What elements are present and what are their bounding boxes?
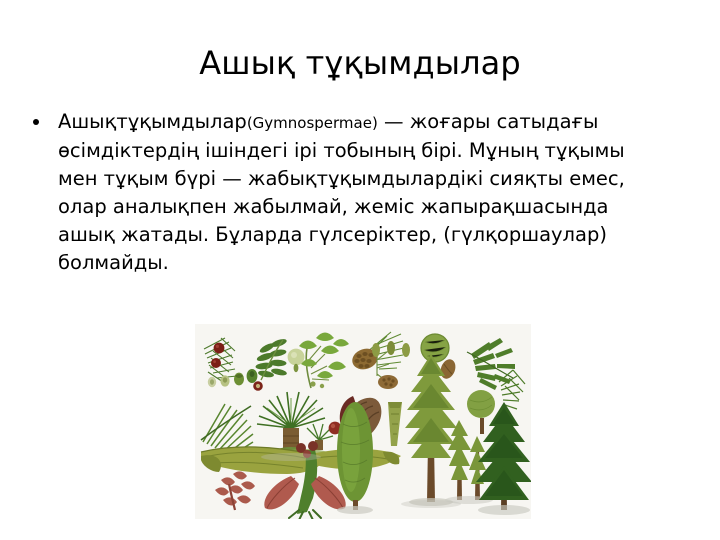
presentation-slide: Ашық тұқымдылар Ашықтұқымдылар(Gymnosper… [0, 0, 720, 540]
slide-body: Ашықтұқымдылар(Gymnospermae) — жоғары са… [28, 108, 640, 277]
body-lead-term: Ашықтұқымдылар [58, 110, 247, 133]
slide-title: Ашық тұқымдылар [36, 44, 684, 82]
bullet-list-item: Ашықтұқымдылар(Gymnospermae) — жоғары са… [28, 108, 640, 277]
gymnosperm-illustration [195, 324, 531, 519]
gymnosperm-illustration-graphic [195, 324, 531, 519]
body-paragraph: Ашықтұқымдылар(Gymnospermae) — жоғары са… [58, 108, 640, 277]
body-rest-text: — жоғары сатыдағы өсімдіктердің ішіндегі… [58, 110, 625, 274]
bullet-point-icon [33, 119, 39, 125]
body-latin-name: (Gymnospermae) [247, 114, 378, 132]
